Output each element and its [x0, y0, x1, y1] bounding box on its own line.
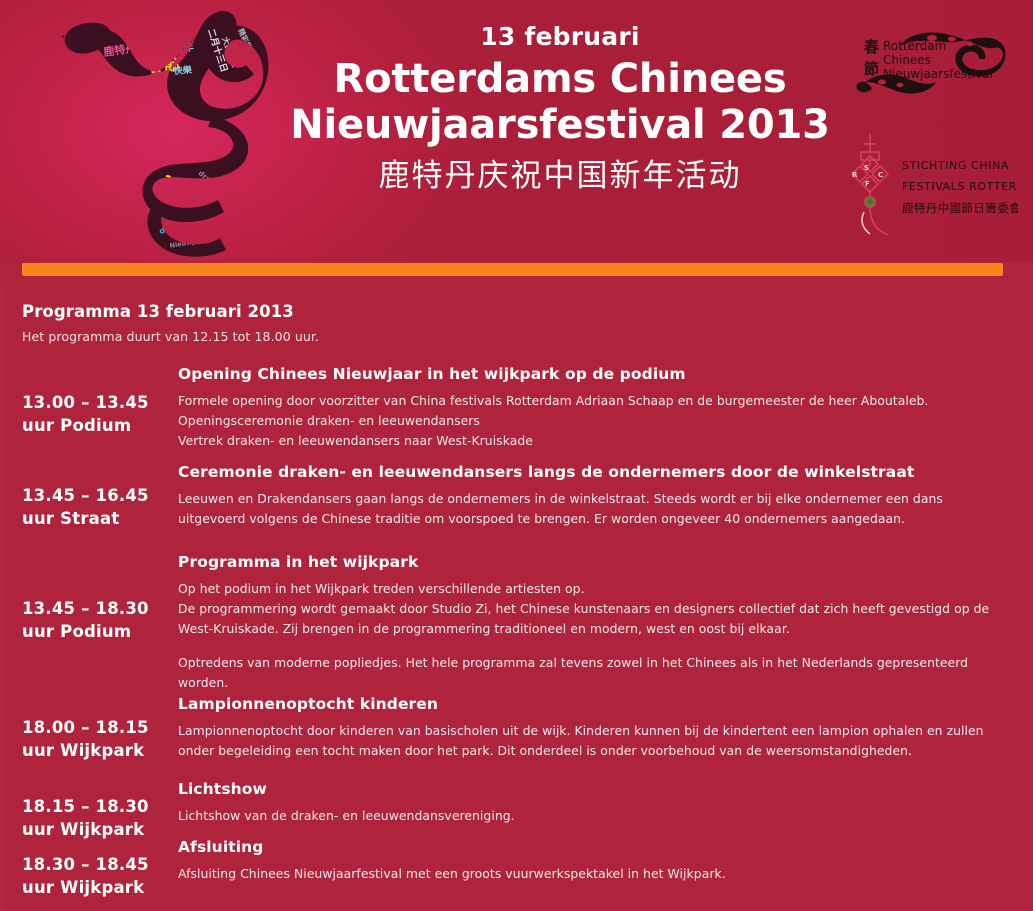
svg-text:唐人街: 唐人街 [137, 38, 177, 58]
program-row-time-range: 18.00 – 18.15 [22, 718, 149, 737]
program-row-body: Programma in het wijkparkOp het podium i… [178, 550, 1033, 693]
program-row-description: Lichtshow van de draken- en leeuwendansv… [178, 806, 993, 826]
svg-text:春: 春 [864, 38, 879, 56]
svg-text:Nieuw: Nieuw [119, 148, 150, 163]
svg-text:STICHTING CHINA: STICHTING CHINA [902, 159, 1009, 172]
program-row-body: Ceremonie draken- en leeuwendansers lang… [178, 460, 1033, 529]
program-row-description: Afsluiting Chinees Nieuwjaarfestival met… [178, 864, 993, 884]
program-row-time-range: 18.15 – 18.30 [22, 797, 149, 816]
svg-text:活動: 活動 [135, 101, 160, 117]
svg-text:S: S [864, 164, 869, 172]
orange-rule-icon [22, 263, 1003, 276]
program-row-description: Op het podium in het Wijkpark treden ver… [178, 579, 993, 639]
program-row-title: Ceremonie draken- en leeuwendansers lang… [178, 462, 993, 483]
svg-text:鹿特丹中國節日籌委會: 鹿特丹中國節日籌委會 [902, 201, 1018, 215]
svg-text:Chinees: Chinees [883, 53, 931, 67]
festival-title-chinese: 鹿特丹庆祝中国新年活动 [290, 157, 830, 196]
snake-wordart-illustration: 鹿特丹 唐人街 新年 春節 慶祝 活動 快樂 二月十三日 大匯演出 精彩節目 慶… [62, 8, 292, 258]
program-row-location: uur Wijkpark [22, 740, 178, 763]
program-row-description: Leeuwen en Drakendansers gaan langs de o… [178, 489, 993, 529]
program-row-location: uur Wijkpark [22, 877, 178, 900]
svg-text:jaar: jaar [116, 160, 138, 173]
svg-text:慶祝: 慶祝 [141, 83, 166, 99]
program-row-time-range: 18.30 – 18.45 [22, 855, 149, 874]
program-row-body: Opening Chinees Nieuwjaar in het wijkpar… [178, 362, 1033, 451]
svg-text:R: R [852, 171, 858, 179]
program-row-body: AfsluitingAfsluiting Chinees Nieuwjaarfe… [178, 835, 1033, 884]
program-row-location: uur Straat [22, 508, 178, 531]
festival-title-line2: Nieuwjaarsfestival 2013 [290, 102, 830, 148]
program-row: 13.00 – 13.45uur PodiumOpening Chinees N… [0, 362, 1033, 460]
svg-text:C: C [878, 171, 883, 179]
svg-text:Nieuwjaarsfestival: Nieuwjaarsfestival [883, 67, 993, 81]
program-row: 13.45 – 16.45uur StraatCeremonie draken-… [0, 460, 1033, 550]
program-row: 13.45 – 18.30uur PodiumProgramma in het … [0, 550, 1033, 692]
program-row-body: Lampionnenoptocht kinderenLampionnenopto… [178, 692, 1033, 761]
svg-text:Chinees: Chinees [141, 122, 219, 155]
program-heading: Programma 13 februari 2013 [22, 302, 294, 321]
program-row-title: Opening Chinees Nieuwjaar in het wijkpar… [178, 364, 993, 385]
event-date: 13 februari [290, 22, 830, 52]
svg-text:慶: 慶 [145, 25, 156, 36]
svg-text:Rotterdam: Rotterdam [883, 39, 946, 53]
svg-text:festival: festival [113, 167, 150, 182]
festival-title-line1: Rotterdams Chinees [290, 56, 830, 102]
program-row-location: uur Podium [22, 415, 178, 438]
program-row-description: Formele opening door voorzitter van Chin… [178, 391, 993, 451]
festival-logo: 春 節 Rotterdam Chinees Nieuwjaarsfestival [848, 28, 1008, 106]
program-row-time: 13.45 – 16.45uur Straat [0, 460, 178, 531]
program-row-title: Lichtshow [178, 779, 993, 800]
poster-page: 鹿特丹 唐人街 新年 春節 慶祝 活動 快樂 二月十三日 大匯演出 精彩節目 慶… [0, 0, 1033, 911]
program-row-time: 18.15 – 18.30uur Wijkpark [0, 777, 178, 842]
program-row-time-range: 13.45 – 18.30 [22, 599, 149, 618]
program-row-location: uur Podium [22, 621, 178, 644]
program-row-time: 18.30 – 18.45uur Wijkpark [0, 835, 178, 900]
program-row-time-range: 13.00 – 13.45 [22, 393, 149, 412]
program-row-time: 13.45 – 18.30uur Podium [0, 550, 178, 644]
program-row-title: Lampionnenoptocht kinderen [178, 694, 993, 715]
program-row: 18.00 – 18.15uur WijkparkLampionnenoptoc… [0, 692, 1033, 777]
program-section: Programma 13 februari 2013 Het programma… [0, 288, 1033, 911]
program-row-title: Programma in het wijkpark [178, 552, 993, 573]
program-subheading: Het programma duurt van 12.15 tot 18.00 … [22, 329, 319, 344]
svg-text:節: 節 [864, 60, 879, 78]
program-row: 18.30 – 18.45uur WijkparkAfsluitingAfslu… [0, 835, 1033, 895]
program-row: 18.15 – 18.30uur WijkparkLichtshowLichts… [0, 777, 1033, 835]
program-row-description: Optredens van moderne popliedjes. Het he… [178, 653, 993, 693]
foundation-logo: S C R F STICHTING CHINA FESTIVALS ROTTER… [848, 130, 1018, 235]
svg-text:新年: 新年 [173, 40, 194, 55]
divider-region [0, 262, 1033, 288]
poster-header: 鹿特丹 唐人街 新年 春節 慶祝 活動 快樂 二月十三日 大匯演出 精彩節目 慶… [0, 0, 1033, 262]
program-row-time: 13.00 – 13.45uur Podium [0, 362, 178, 438]
program-row-time: 18.00 – 18.15uur Wijkpark [0, 692, 178, 763]
program-row-time-range: 13.45 – 16.45 [22, 486, 149, 505]
program-rows: 13.00 – 13.45uur PodiumOpening Chinees N… [0, 362, 1033, 895]
svg-text:F: F [865, 180, 870, 188]
program-row-description: Lampionnenoptocht door kinderen van basi… [178, 721, 993, 761]
svg-text:FESTIVALS ROTTERDAM: FESTIVALS ROTTERDAM [902, 180, 1018, 193]
program-row-title: Afsluiting [178, 837, 993, 858]
title-block: 13 februari Rotterdams Chinees Nieuwjaar… [290, 22, 830, 196]
program-row-body: LichtshowLichtshow van de draken- en lee… [178, 777, 1033, 826]
